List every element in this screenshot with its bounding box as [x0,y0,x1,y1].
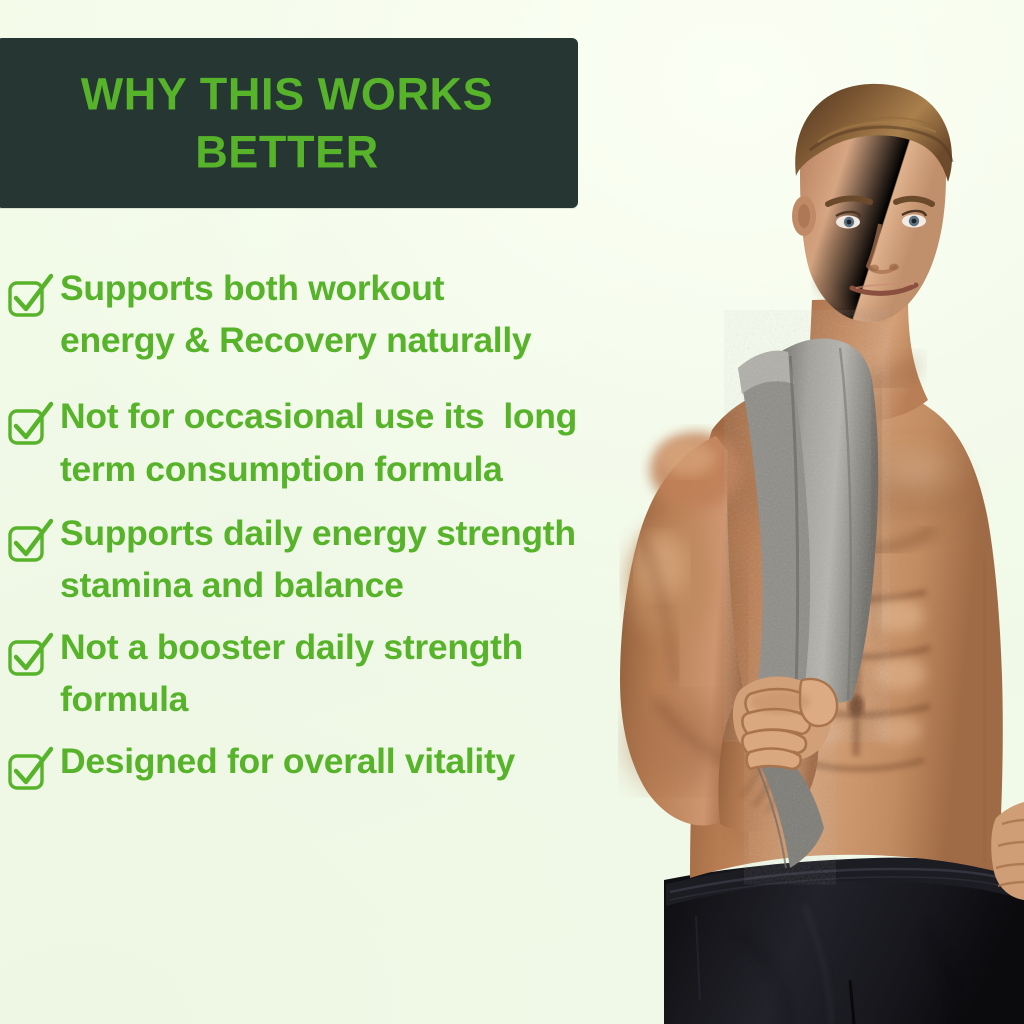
list-item-label: Not a booster daily strength formula [60,621,523,725]
check-square-icon [6,402,52,448]
list-item: Supports daily energy strength stamina a… [0,507,712,611]
promo-graphic: WHY THIS WORKS BETTER Supports both work… [0,0,1024,1024]
check-square-icon [6,747,52,793]
check-square-icon [6,633,52,679]
list-item: Designed for overall vitality [0,735,712,793]
list-item: Not a booster daily strength formula [0,621,712,725]
check-square-icon [6,274,52,320]
list-item: Supports both workout energy & Recovery … [0,262,712,366]
page-title: WHY THIS WORKS BETTER [18,65,556,180]
header-banner: WHY THIS WORKS BETTER [0,38,578,208]
list-item-label: Designed for overall vitality [60,735,515,787]
list-item-label: Supports daily energy strength stamina a… [60,507,576,611]
list-item-label: Supports both workout energy & Recovery … [60,262,531,366]
check-square-icon [6,519,52,565]
list-item: Not for occasional use its long term con… [0,390,712,494]
list-item-label: Not for occasional use its long term con… [60,390,577,494]
benefits-list: Supports both workout energy & Recovery … [0,262,712,793]
